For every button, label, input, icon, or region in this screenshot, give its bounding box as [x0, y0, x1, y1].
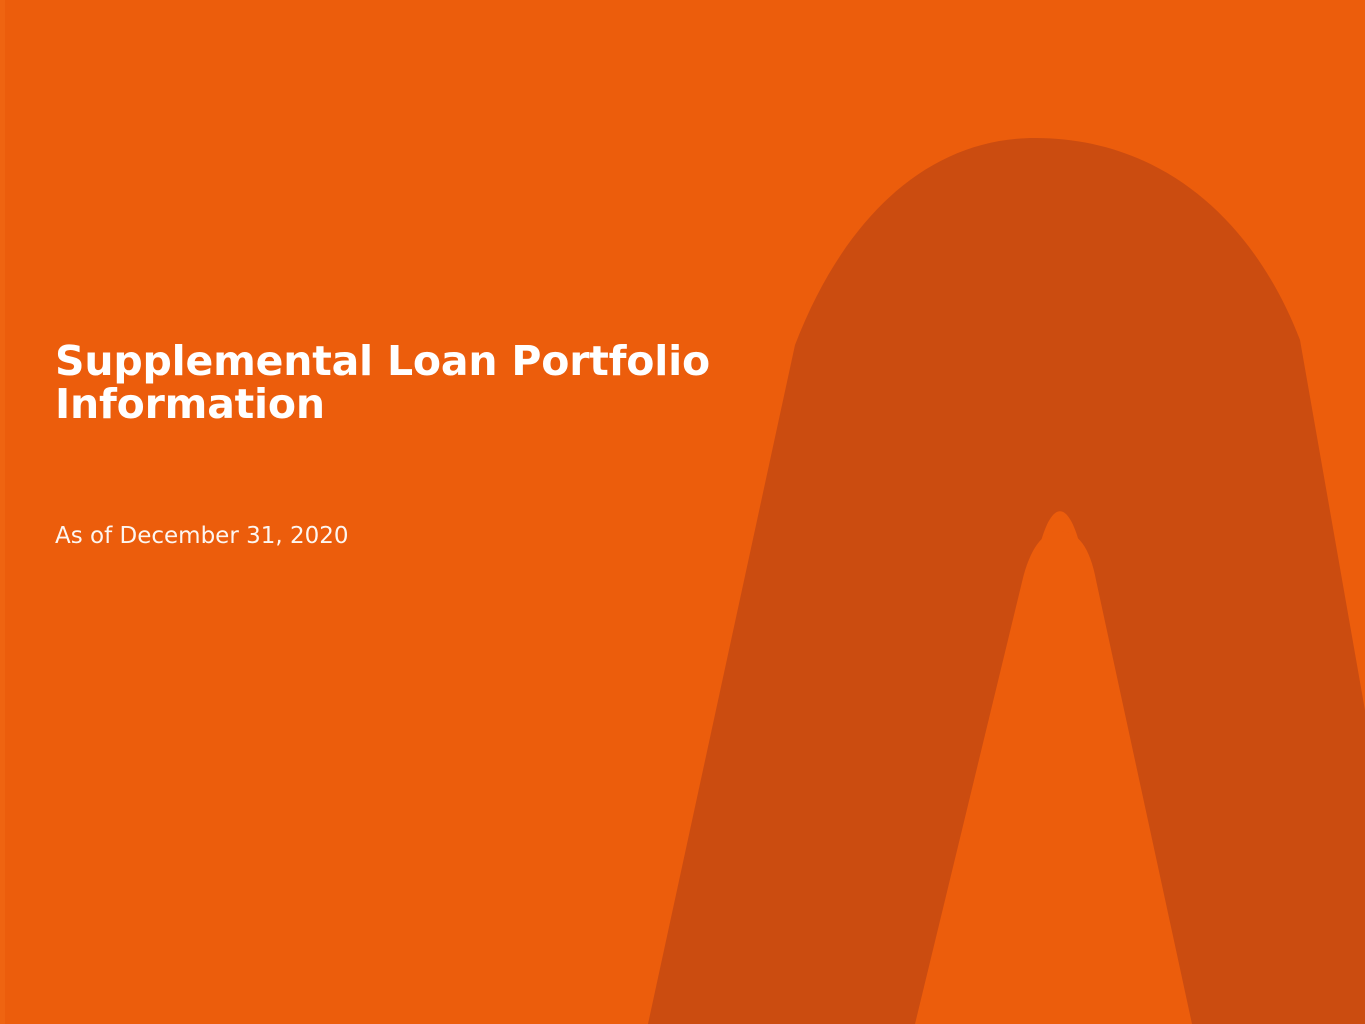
title-text-block: Supplemental Loan Portfolio Information …: [55, 340, 815, 551]
title-slide: Supplemental Loan Portfolio Information …: [0, 0, 1365, 1024]
page-title: Supplemental Loan Portfolio Information: [55, 340, 815, 426]
left-edge-strip: [0, 0, 5, 1024]
arch-outer-shape: [648, 138, 1365, 1024]
slide-subtitle: As of December 31, 2020: [55, 426, 815, 551]
arch-inner-notch: [915, 531, 1192, 1024]
